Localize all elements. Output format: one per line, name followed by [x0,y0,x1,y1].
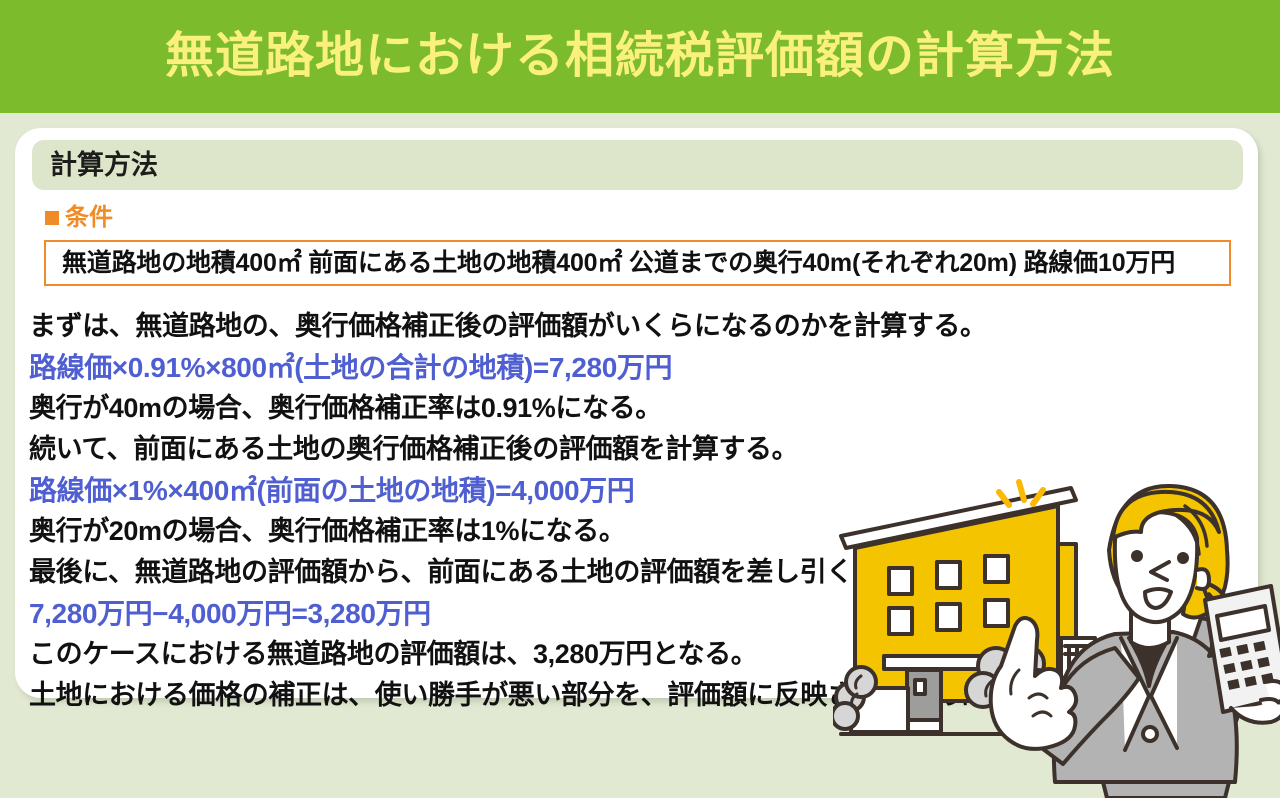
formula-line: 7,280万円−4,000万円=3,280万円 [29,593,1244,634]
square-bullet-icon [45,211,59,225]
conditions-box: 無道路地の地積400㎡ 前面にある土地の地積400㎡ 公道までの奥行40m(それ… [44,240,1231,286]
conditions-text: 無道路地の地積400㎡ 前面にある土地の地積400㎡ 公道までの奥行40m(それ… [62,251,1175,276]
page-title: 無道路地における相続税評価額の計算方法 [165,32,1115,81]
infographic-page: 無道路地における相続税評価額の計算方法 計算方法 条件 無道路地の地積400㎡ … [0,0,1280,720]
explanation-text-block: まずは、無道路地の、奥行価格補正後の評価額がいくらになるのかを計算する。 路線価… [29,306,1244,716]
formula-line: 路線価×0.91%×800㎡(土地の合計の地積)=7,280万円 [29,347,1244,388]
text-line: 奥行が40mの場合、奥行価格補正率は0.91%になる。 [29,388,1244,429]
text-line: まずは、無道路地の、奥行価格補正後の評価額がいくらになるのかを計算する。 [29,306,1244,347]
content-card: 計算方法 条件 無道路地の地積400㎡ 前面にある土地の地積400㎡ 公道までの… [15,128,1258,698]
section-header-label: 計算方法 [50,152,158,179]
conditions-label: 条件 [65,206,113,230]
text-line: 続いて、前面にある土地の奥行価格補正後の評価額を計算する。 [29,429,1244,470]
page-banner: 無道路地における相続税評価額の計算方法 [0,0,1280,113]
text-line: 土地における価格の補正は、使い勝手が悪い部分を、評価額に反映させるために用いられ… [29,675,1244,716]
conditions-heading: 条件 [45,206,113,230]
text-line: 最後に、無道路地の評価額から、前面にある土地の評価額を差し引く。 [29,552,1244,593]
section-header: 計算方法 [32,140,1243,190]
text-line: 奥行が20mの場合、奥行価格補正率は1%になる。 [29,511,1244,552]
formula-line: 路線価×1%×400㎡(前面の土地の地積)=4,000万円 [29,470,1244,511]
text-line: このケースにおける無道路地の評価額は、3,280万円となる。 [29,634,1244,675]
